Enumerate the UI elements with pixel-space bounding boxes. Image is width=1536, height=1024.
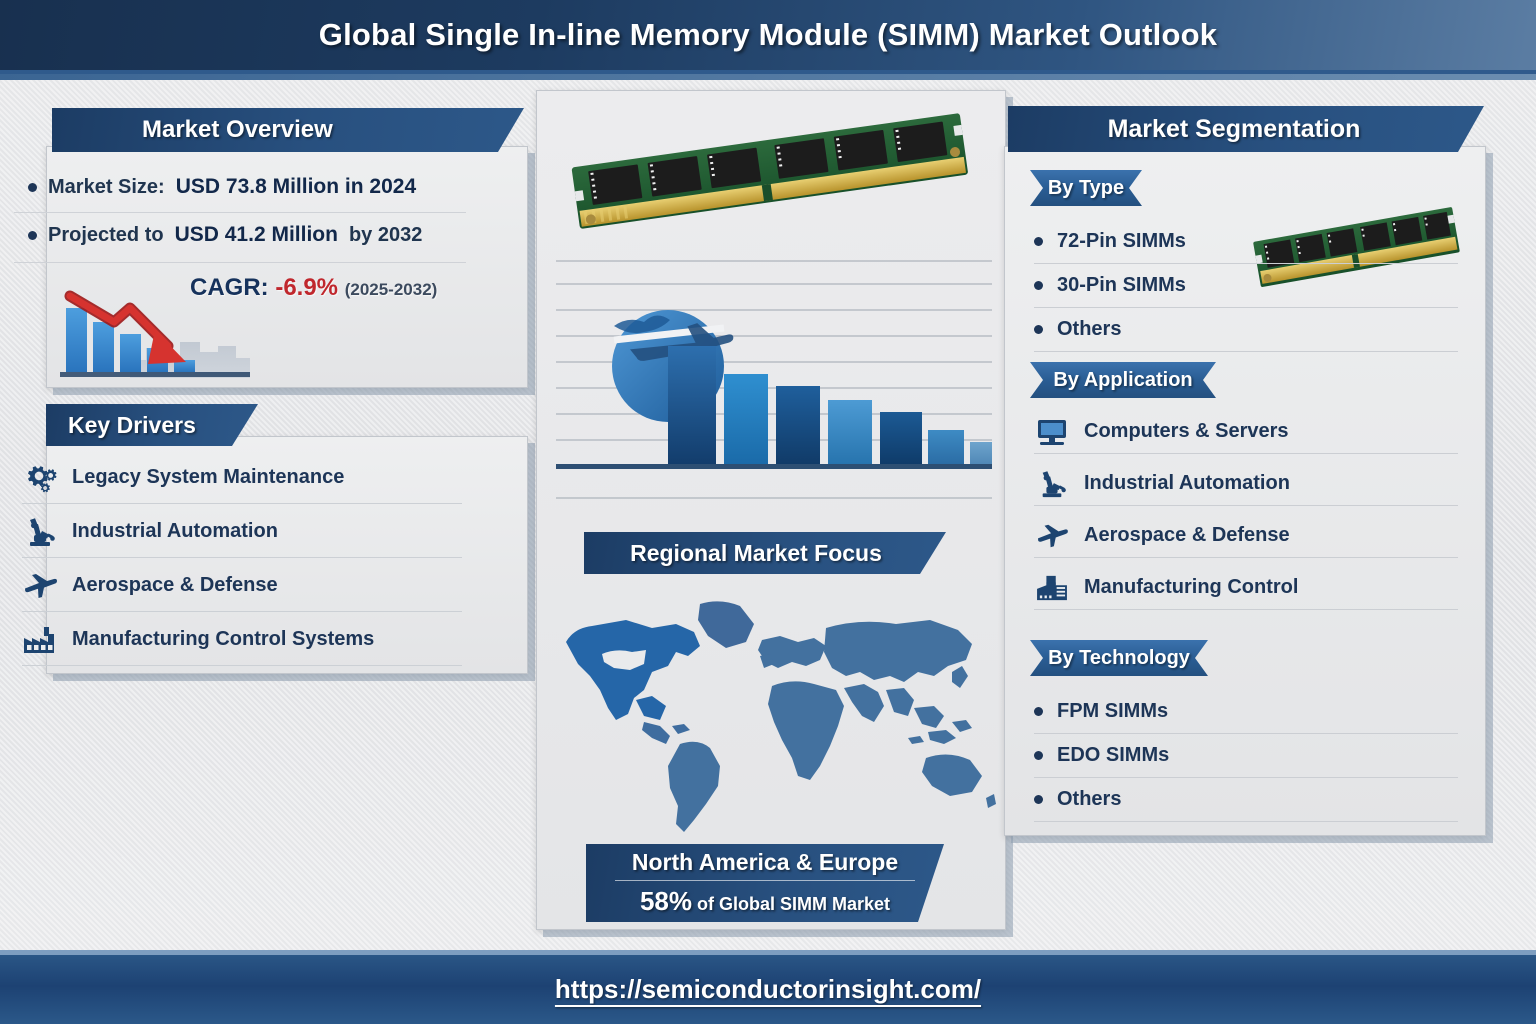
- center-bar-chart: [556, 258, 992, 514]
- key-driver-row: Industrial Automation: [22, 506, 462, 558]
- robot-arm-icon: [22, 516, 58, 548]
- header-stripe: [0, 74, 1536, 80]
- key-driver-row: Aerospace & Defense: [22, 560, 462, 612]
- page-title: Global Single In-line Memory Module (SIM…: [319, 17, 1217, 53]
- bullet-dot: [28, 231, 37, 240]
- segment-item-tech-2: Others: [1034, 778, 1458, 822]
- segment-item-app-1: Industrial Automation: [1034, 462, 1458, 506]
- region-share-line1: North America & Europe: [632, 849, 898, 876]
- key-driver-label: Manufacturing Control Systems: [72, 628, 374, 651]
- segment-label: Industrial Automation: [1084, 472, 1290, 495]
- market-overview-heading: Market Overview: [52, 108, 524, 152]
- segment-label: Aerospace & Defense: [1084, 524, 1290, 547]
- infographic-page: Global Single In-line Memory Module (SIM…: [0, 0, 1536, 1024]
- key-driver-row: Legacy System Maintenance: [22, 452, 462, 504]
- bullet-dot: [1034, 237, 1043, 246]
- key-drivers-heading: Key Drivers: [46, 404, 258, 446]
- bullet-dot: [1034, 751, 1043, 760]
- segment-item-tech-0: FPM SIMMs: [1034, 690, 1458, 734]
- segment-item-type-0: 72-Pin SIMMs: [1034, 220, 1458, 264]
- key-driver-label: Aerospace & Defense: [72, 574, 278, 597]
- world-map: [548, 580, 1000, 842]
- key-driver-label: Industrial Automation: [72, 520, 278, 543]
- factory-icon: [22, 624, 58, 656]
- robot-arm-icon: [1034, 468, 1070, 500]
- key-driver-row: Manufacturing Control Systems: [22, 614, 462, 666]
- bullet-dot: [1034, 325, 1043, 334]
- market-segmentation-heading: Market Segmentation: [1008, 106, 1484, 152]
- segment-label: EDO SIMMs: [1057, 744, 1169, 767]
- overview-value-0: USD 73.8 Million in 2024: [176, 175, 416, 199]
- overview-value-1: USD 41.2 Million: [175, 223, 338, 247]
- region-share-banner: North America & Europe 58% of Global SIM…: [586, 844, 944, 922]
- segment-ribbon-by-application: By Application: [1030, 362, 1216, 398]
- overview-label-1: Projected to: [48, 224, 164, 247]
- segment-label: Computers & Servers: [1084, 420, 1289, 443]
- page-header: Global Single In-line Memory Module (SIM…: [0, 0, 1536, 74]
- key-driver-label: Legacy System Maintenance: [72, 466, 344, 489]
- bullet-dot: [28, 183, 37, 192]
- segment-item-app-0: Computers & Servers: [1034, 410, 1458, 454]
- region-share-percent: 58%: [640, 886, 692, 916]
- bullet-dot: [1034, 795, 1043, 804]
- overview-item-projection: Projected to USD 41.2 Million by 2032: [28, 223, 422, 247]
- overview-item-market-size: Market Size: USD 73.8 Million in 2024: [28, 175, 416, 199]
- simm-module-image-top: [560, 108, 980, 236]
- bullet-dot: [1034, 281, 1043, 290]
- factory-icon: [1034, 572, 1070, 604]
- cagr-statistic: CAGR: -6.9% (2025-2032): [190, 274, 437, 302]
- regional-market-focus-heading: Regional Market Focus: [584, 532, 946, 574]
- segment-label: 30-Pin SIMMs: [1057, 274, 1186, 297]
- monitor-icon: [1034, 416, 1070, 448]
- overview-label-0: Market Size:: [48, 176, 165, 199]
- segment-ribbon-by-technology: By Technology: [1030, 640, 1208, 676]
- airplane-icon: [1034, 520, 1070, 552]
- overview-suffix-1: by 2032: [349, 224, 422, 247]
- cagr-value: -6.9%: [275, 274, 338, 301]
- segment-item-app-2: Aerospace & Defense: [1034, 514, 1458, 558]
- airplane-icon: [22, 570, 58, 602]
- segment-item-tech-1: EDO SIMMs: [1034, 734, 1458, 778]
- segment-item-type-2: Others: [1034, 308, 1458, 352]
- cagr-period: (2025-2032): [345, 280, 438, 299]
- region-share-line2: 58% of Global SIMM Market: [640, 886, 890, 917]
- region-share-text: of Global SIMM Market: [692, 894, 890, 914]
- bullet-dot: [1034, 707, 1043, 716]
- segment-label: Manufacturing Control: [1084, 576, 1298, 599]
- page-footer: https://semiconductorinsight.com/: [0, 950, 1536, 1024]
- segment-label: FPM SIMMs: [1057, 700, 1168, 723]
- segment-label: Others: [1057, 788, 1121, 811]
- gears-icon: [22, 462, 58, 494]
- segment-label: 72-Pin SIMMs: [1057, 230, 1186, 253]
- cagr-label: CAGR:: [190, 274, 269, 301]
- footer-url[interactable]: https://semiconductorinsight.com/: [555, 974, 981, 1005]
- segment-item-app-3: Manufacturing Control: [1034, 566, 1458, 610]
- region-share-divider: [615, 880, 915, 881]
- segment-ribbon-by-type: By Type: [1030, 170, 1142, 206]
- segment-item-type-1: 30-Pin SIMMs: [1034, 264, 1458, 308]
- segment-label: Others: [1057, 318, 1121, 341]
